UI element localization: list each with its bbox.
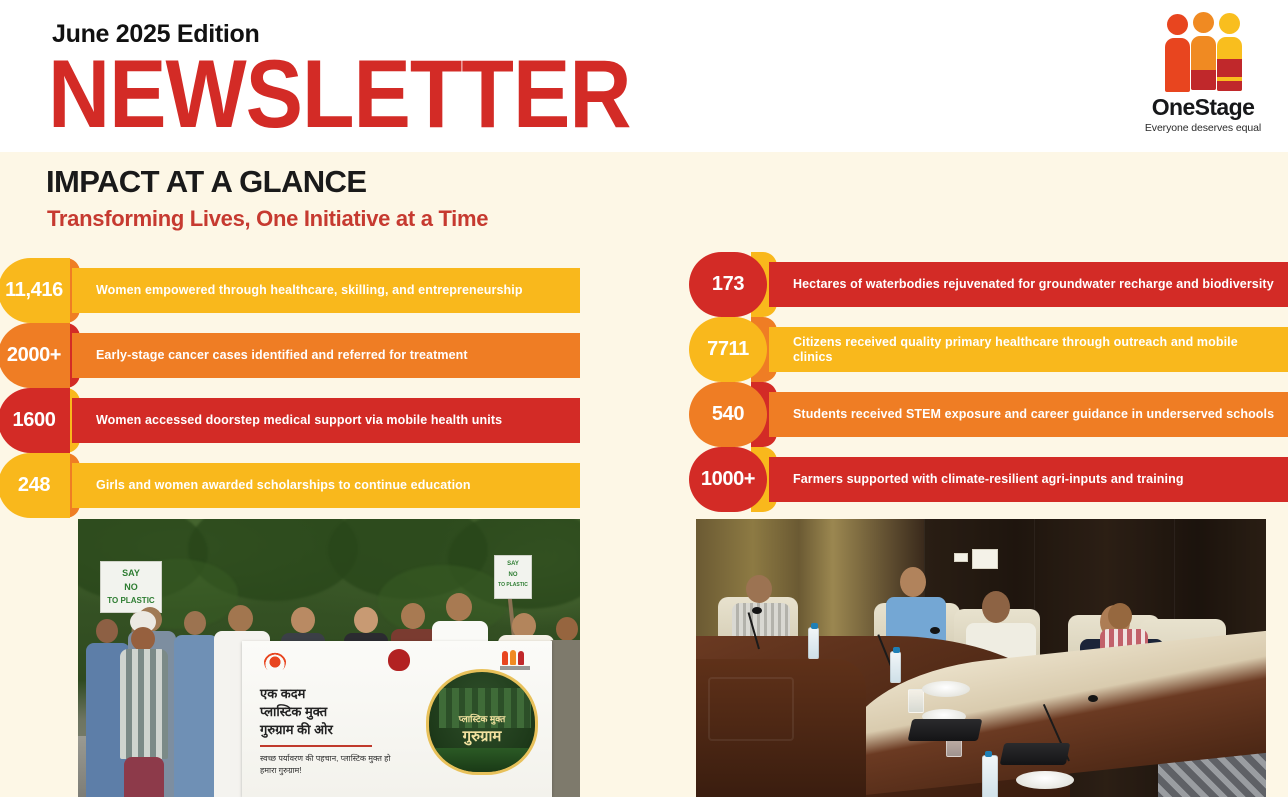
attendee-head [982, 591, 1010, 623]
stat-badge: 1000+ [689, 447, 767, 512]
stat-bar: Women empowered through healthcare, skil… [72, 268, 580, 313]
participant-head [354, 607, 378, 633]
section-title: IMPACT AT A GLANCE [46, 164, 366, 200]
stat-bar: Hectares of waterbodies rejuvenated for … [769, 262, 1288, 307]
banner-subtext-line-2: हमारा गुरुग्राम! [260, 765, 302, 776]
stat-value: 1000+ [701, 468, 755, 491]
laptop [1000, 743, 1071, 765]
stat-description: Women empowered through healthcare, skil… [72, 283, 537, 298]
placard-line-2: NO [101, 582, 161, 592]
saucer [922, 681, 970, 697]
wall-notice [972, 549, 998, 569]
logo-wordmark: OneStage [1128, 94, 1278, 121]
attendee-head [1108, 603, 1132, 629]
onestage-logo: OneStage Everyone deserves equal [1128, 12, 1278, 140]
stat-badge: 1600 [0, 388, 70, 453]
participant-body [174, 635, 218, 797]
stat-badge: 248 [0, 453, 70, 518]
stat-description: Girls and women awarded scholarships to … [72, 478, 485, 493]
banner-headline-line-1: एक कदम [260, 685, 305, 702]
newsletter-header: June 2025 Edition NEWSLETTER [0, 0, 1288, 152]
badge-line-2: गुरुग्राम [429, 726, 535, 746]
stat-value: 2000+ [7, 344, 61, 367]
stat-description: Students received STEM exposure and care… [769, 407, 1288, 422]
banner-emblem-police-icon [388, 649, 410, 671]
stat-description: Farmers supported with climate-resilient… [769, 472, 1198, 487]
stat-value: 248 [18, 474, 50, 497]
participant-head [291, 607, 315, 633]
stat-bar: Early-stage cancer cases identified and … [72, 333, 580, 378]
stat-badge: 540 [689, 382, 767, 447]
saucer [1016, 771, 1074, 789]
placard-line-3: TO PLASTIC [495, 583, 531, 589]
stat-bar: Girls and women awarded scholarships to … [72, 463, 580, 508]
participant-head [228, 605, 253, 632]
badge-line-1: प्लास्टिक मुक्त [429, 712, 535, 725]
logo-tagline: Everyone deserves equal [1128, 122, 1278, 134]
microphone-head [752, 607, 762, 614]
sanitizer-bottle [890, 651, 901, 683]
stat-badge: 2000+ [0, 323, 70, 388]
stat-row: Girls and women awarded scholarships to … [0, 453, 580, 518]
impact-stats-left-column: Women empowered through healthcare, skil… [0, 258, 580, 518]
stat-value: 173 [712, 273, 744, 296]
logo-figure-3-band-lower [1217, 81, 1242, 91]
stat-description: Early-stage cancer cases identified and … [72, 348, 482, 363]
placard-say-no-to-plastic-small: SAY NO TO PLASTIC [494, 555, 532, 599]
stat-bar: Citizens received quality primary health… [769, 327, 1288, 372]
bottle-cap [893, 647, 900, 653]
section-subtitle: Transforming Lives, One Initiative at a … [47, 206, 488, 232]
participant-head [131, 627, 155, 651]
laptop [908, 719, 983, 741]
logo-figure-3-band-upper [1217, 59, 1242, 77]
water-glass [908, 689, 924, 713]
stat-row: Women empowered through healthcare, skil… [0, 258, 580, 323]
attendee-head [900, 567, 926, 597]
newsletter-page: June 2025 Edition NEWSLETTER [0, 0, 1288, 797]
logo-figure-1-body [1165, 38, 1190, 92]
participant-body [120, 649, 168, 759]
stat-value: 1600 [13, 409, 56, 432]
stat-row: Farmers supported with climate-resilient… [689, 447, 1288, 512]
placard-line-1: SAY [101, 568, 161, 578]
stat-description: Citizens received quality primary health… [769, 335, 1288, 365]
sanitizer-bottle [808, 627, 819, 659]
stat-description: Hectares of waterbodies rejuvenated for … [769, 277, 1288, 292]
banner-divider [260, 745, 372, 747]
banner-onestage-logo-icon [500, 649, 534, 671]
photo-plastic-free-rally: SAY NO TO PLASTIC SAY NO TO PLASTIC [78, 519, 580, 797]
stat-bar: Women accessed doorstep medical support … [72, 398, 580, 443]
participant-head [401, 603, 425, 629]
attendee-head [746, 575, 772, 603]
stat-row: Early-stage cancer cases identified and … [0, 323, 580, 388]
logo-figure-3-head [1219, 13, 1240, 34]
stat-badge: 173 [689, 252, 767, 317]
stat-value: 540 [712, 403, 744, 426]
wall-switch [954, 553, 968, 562]
participant-head [446, 593, 472, 621]
stat-description: Women accessed doorstep medical support … [72, 413, 516, 428]
microphone-head [1088, 695, 1098, 702]
placard-line-1: SAY [495, 561, 531, 568]
logo-figure-1-head [1167, 14, 1188, 35]
placard-line-3: TO PLASTIC [101, 596, 161, 605]
stat-value: 7711 [707, 338, 749, 361]
stat-badge: 7711 [689, 317, 767, 382]
stat-bar: Farmers supported with climate-resilient… [769, 457, 1288, 502]
impact-stats-right-column: Hectares of waterbodies rejuvenated for … [689, 252, 1288, 512]
bottle-cap [811, 623, 818, 629]
placard-line-2: NO [495, 572, 531, 579]
banner-headline-line-2: प्लास्टिक मुक्त [260, 703, 327, 720]
stat-badge: 11,416 [0, 258, 70, 323]
placard-say-no-to-plastic: SAY NO TO PLASTIC [100, 561, 162, 613]
stat-value: 11,416 [5, 279, 63, 302]
masthead-title: NEWSLETTER [48, 44, 630, 145]
logo-mark-icon [1128, 12, 1278, 90]
stat-row: Women accessed doorstep medical support … [0, 388, 580, 453]
stat-row: Hectares of waterbodies rejuvenated for … [689, 252, 1288, 317]
badge-base [429, 748, 535, 772]
stat-bar: Students received STEM exposure and care… [769, 392, 1288, 437]
sanitizer-bottle [982, 755, 998, 797]
bottle-cap [985, 751, 992, 757]
participant-head [184, 611, 206, 635]
banner-subtext-line-1: स्वच्छ पर्यावरण की पहचान, प्लास्टिक मुक्… [260, 753, 390, 764]
table-panel-inlay [708, 677, 794, 741]
gurugram-campaign-badge: प्लास्टिक मुक्त गुरुग्राम [426, 669, 538, 775]
participant-legs [124, 757, 164, 797]
microphone-head [930, 627, 940, 634]
logo-figure-2-band [1191, 70, 1216, 90]
photo-conference-meeting [696, 519, 1266, 797]
banner-emblem-aadhaar-icon [264, 651, 286, 673]
participant-head [556, 617, 578, 641]
logo-figure-2-head [1193, 12, 1214, 33]
participant-head [96, 619, 118, 643]
campaign-banner: एक कदम प्लास्टिक मुक्त गुरुग्राम की ओर स… [242, 641, 552, 797]
stat-row: Citizens received quality primary health… [689, 317, 1288, 382]
stat-row: Students received STEM exposure and care… [689, 382, 1288, 447]
banner-headline-line-3: गुरुग्राम की ओर [260, 721, 333, 738]
